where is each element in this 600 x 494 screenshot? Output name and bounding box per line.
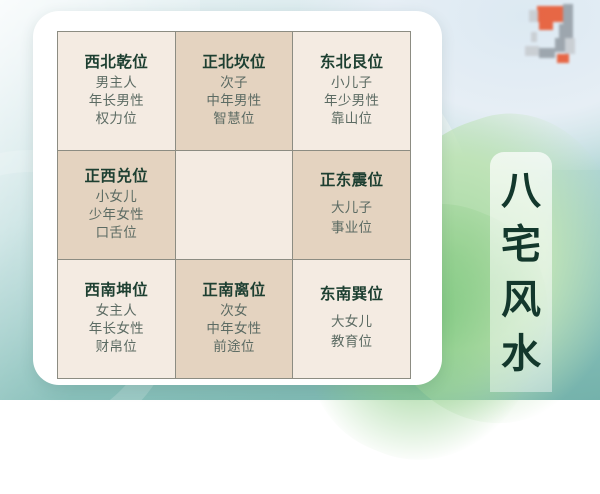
cell-line: 男主人	[89, 74, 144, 92]
cell-title: 西南坤位	[85, 282, 149, 300]
cell-line: 靠山位	[324, 110, 379, 128]
grid-cell-middle-right[interactable]: 正东震位 大儿子 事业位	[293, 151, 411, 260]
cell-line: 年少男性	[324, 92, 379, 110]
cell-line: 教育位	[331, 332, 372, 352]
grid-cell-middle-left[interactable]: 正西兑位 小女儿 少年女性 口舌位	[58, 151, 176, 260]
pixelated-watermark	[519, 2, 583, 64]
cell-lines: 大女儿 教育位	[331, 312, 372, 353]
cell-line: 少年女性	[89, 206, 144, 224]
cell-title: 正东震位	[320, 172, 384, 190]
cell-line: 年长男性	[89, 92, 144, 110]
cell-title: 正南离位	[202, 282, 266, 300]
cell-line: 大儿子	[331, 198, 372, 218]
bagua-grid: 西北乾位 男主人 年长男性 权力位 正北坎位 次子 中年男性 智慧位 东北艮位 …	[57, 31, 411, 379]
cell-line: 女主人	[89, 302, 144, 320]
grid-cell-bottom-right[interactable]: 东南巽位 大女儿 教育位	[293, 260, 411, 379]
cell-line: 中年男性	[206, 92, 261, 110]
cell-lines: 女主人 年长女性 财帛位	[89, 302, 144, 356]
vertical-title-char: 风	[501, 273, 541, 327]
vertical-title-char: 八	[501, 164, 541, 218]
cell-title: 西北乾位	[85, 54, 149, 72]
cell-line: 事业位	[331, 218, 372, 238]
cell-line: 口舌位	[89, 224, 144, 242]
cell-line: 次子	[206, 74, 261, 92]
cell-line: 年长女性	[89, 320, 144, 338]
cell-lines: 次子 中年男性 智慧位	[206, 74, 261, 128]
grid-cell-bottom-center[interactable]: 正南离位 次女 中年女性 前途位	[176, 260, 294, 379]
vertical-title: 八 宅 风 水	[490, 164, 552, 382]
cell-line: 中年女性	[206, 320, 261, 338]
cell-line: 次女	[206, 302, 261, 320]
cell-line: 小儿子	[324, 74, 379, 92]
cell-line: 权力位	[89, 110, 144, 128]
cell-line: 小女儿	[89, 188, 144, 206]
cell-lines: 小女儿 少年女性 口舌位	[89, 188, 144, 242]
cell-title: 正西兑位	[85, 168, 149, 186]
cell-line: 前途位	[206, 338, 261, 356]
grid-cell-top-left[interactable]: 西北乾位 男主人 年长男性 权力位	[58, 32, 176, 151]
vertical-title-char: 水	[501, 327, 541, 381]
cell-line: 财帛位	[89, 338, 144, 356]
vertical-title-char: 宅	[501, 218, 541, 272]
cell-title: 东北艮位	[320, 54, 384, 72]
cell-line: 智慧位	[206, 110, 261, 128]
cell-line: 大女儿	[331, 312, 372, 332]
cell-lines: 次女 中年女性 前途位	[206, 302, 261, 356]
cell-title: 东南巽位	[320, 286, 384, 304]
cell-title: 正北坎位	[202, 54, 266, 72]
vertical-title-panel: 八 宅 风 水	[490, 152, 552, 392]
grid-cell-top-center[interactable]: 正北坎位 次子 中年男性 智慧位	[176, 32, 294, 151]
cell-lines: 男主人 年长男性 权力位	[89, 74, 144, 128]
cell-lines: 大儿子 事业位	[331, 198, 372, 239]
grid-cell-center-empty[interactable]	[176, 151, 294, 260]
grid-cell-bottom-left[interactable]: 西南坤位 女主人 年长女性 财帛位	[58, 260, 176, 379]
grid-cell-top-right[interactable]: 东北艮位 小儿子 年少男性 靠山位	[293, 32, 411, 151]
cell-lines: 小儿子 年少男性 靠山位	[324, 74, 379, 128]
